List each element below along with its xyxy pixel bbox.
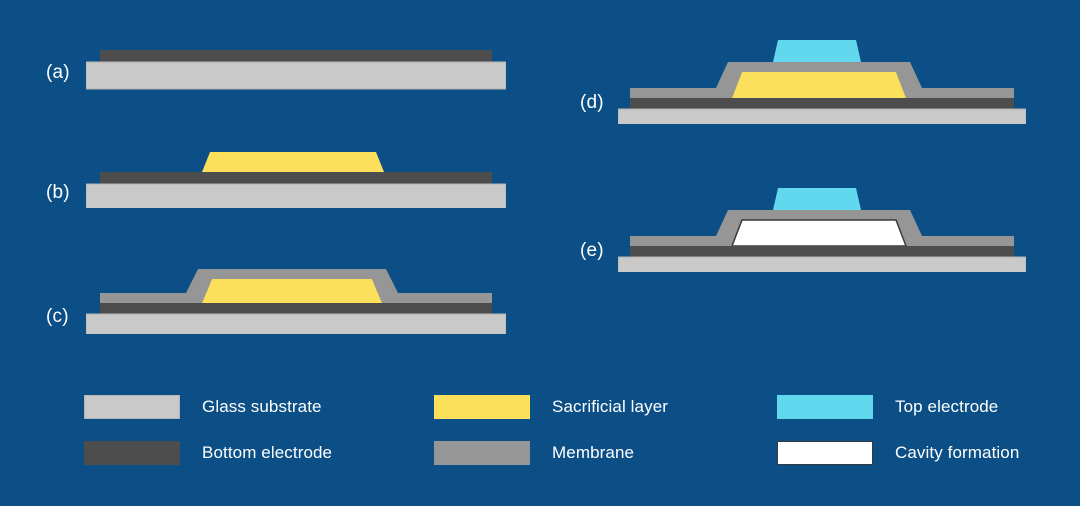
legend-item-glass-substrate: Glass substrate bbox=[84, 394, 322, 420]
sacrificial-layer-layer bbox=[202, 152, 384, 172]
top-electrode-layer bbox=[773, 188, 861, 210]
sacrificial-layer-layer bbox=[732, 72, 906, 98]
panel-a-stack bbox=[86, 48, 506, 93]
sacrificial-layer-layer bbox=[202, 279, 382, 303]
legend-label-sacrificial-layer: Sacrificial layer bbox=[552, 397, 668, 417]
panel-c-stack bbox=[86, 262, 506, 334]
legend-column-1: Glass substrate Bottom electrode bbox=[84, 378, 414, 478]
legend-column-3: Top electrode Cavity formation bbox=[777, 378, 1077, 478]
legend: Glass substrate Bottom electrode Sacrifi… bbox=[0, 378, 1080, 478]
cavity-formation-layer bbox=[732, 220, 906, 246]
glass-substrate-layer bbox=[618, 257, 1026, 272]
legend-item-sacrificial-layer: Sacrificial layer bbox=[434, 394, 668, 420]
top-electrode-layer bbox=[773, 40, 861, 62]
glass-substrate-swatch bbox=[84, 395, 180, 419]
panel-b-stack bbox=[86, 146, 506, 208]
cavity-formation-swatch bbox=[777, 441, 873, 465]
panel-label-c: (c) bbox=[46, 306, 69, 328]
legend-item-bottom-electrode: Bottom electrode bbox=[84, 440, 332, 466]
legend-item-membrane: Membrane bbox=[434, 440, 634, 466]
sacrificial-layer-swatch bbox=[434, 395, 530, 419]
glass-substrate-layer bbox=[86, 314, 506, 334]
top-electrode-swatch bbox=[777, 395, 873, 419]
legend-label-membrane: Membrane bbox=[552, 443, 634, 463]
legend-label-top-electrode: Top electrode bbox=[895, 397, 998, 417]
panel-label-e: (e) bbox=[580, 240, 604, 262]
panel-e-stack bbox=[618, 184, 1026, 272]
legend-label-cavity-formation: Cavity formation bbox=[895, 443, 1019, 463]
legend-column-2: Sacrificial layer Membrane bbox=[434, 378, 764, 478]
panel-d-stack bbox=[618, 36, 1026, 124]
legend-item-cavity-formation: Cavity formation bbox=[777, 440, 1019, 466]
bottom-electrode-swatch bbox=[84, 441, 180, 465]
glass-substrate-layer bbox=[86, 62, 506, 89]
glass-substrate-layer bbox=[86, 184, 506, 208]
glass-substrate-layer bbox=[618, 109, 1026, 124]
panel-label-d: (d) bbox=[580, 92, 604, 114]
panel-label-b: (b) bbox=[46, 182, 70, 204]
process-flow-figure: (a) (b) (c) bbox=[0, 0, 1080, 506]
legend-label-glass-substrate: Glass substrate bbox=[202, 397, 322, 417]
membrane-swatch bbox=[434, 441, 530, 465]
legend-label-bottom-electrode: Bottom electrode bbox=[202, 443, 332, 463]
panel-label-a: (a) bbox=[46, 62, 70, 84]
legend-item-top-electrode: Top electrode bbox=[777, 394, 998, 420]
